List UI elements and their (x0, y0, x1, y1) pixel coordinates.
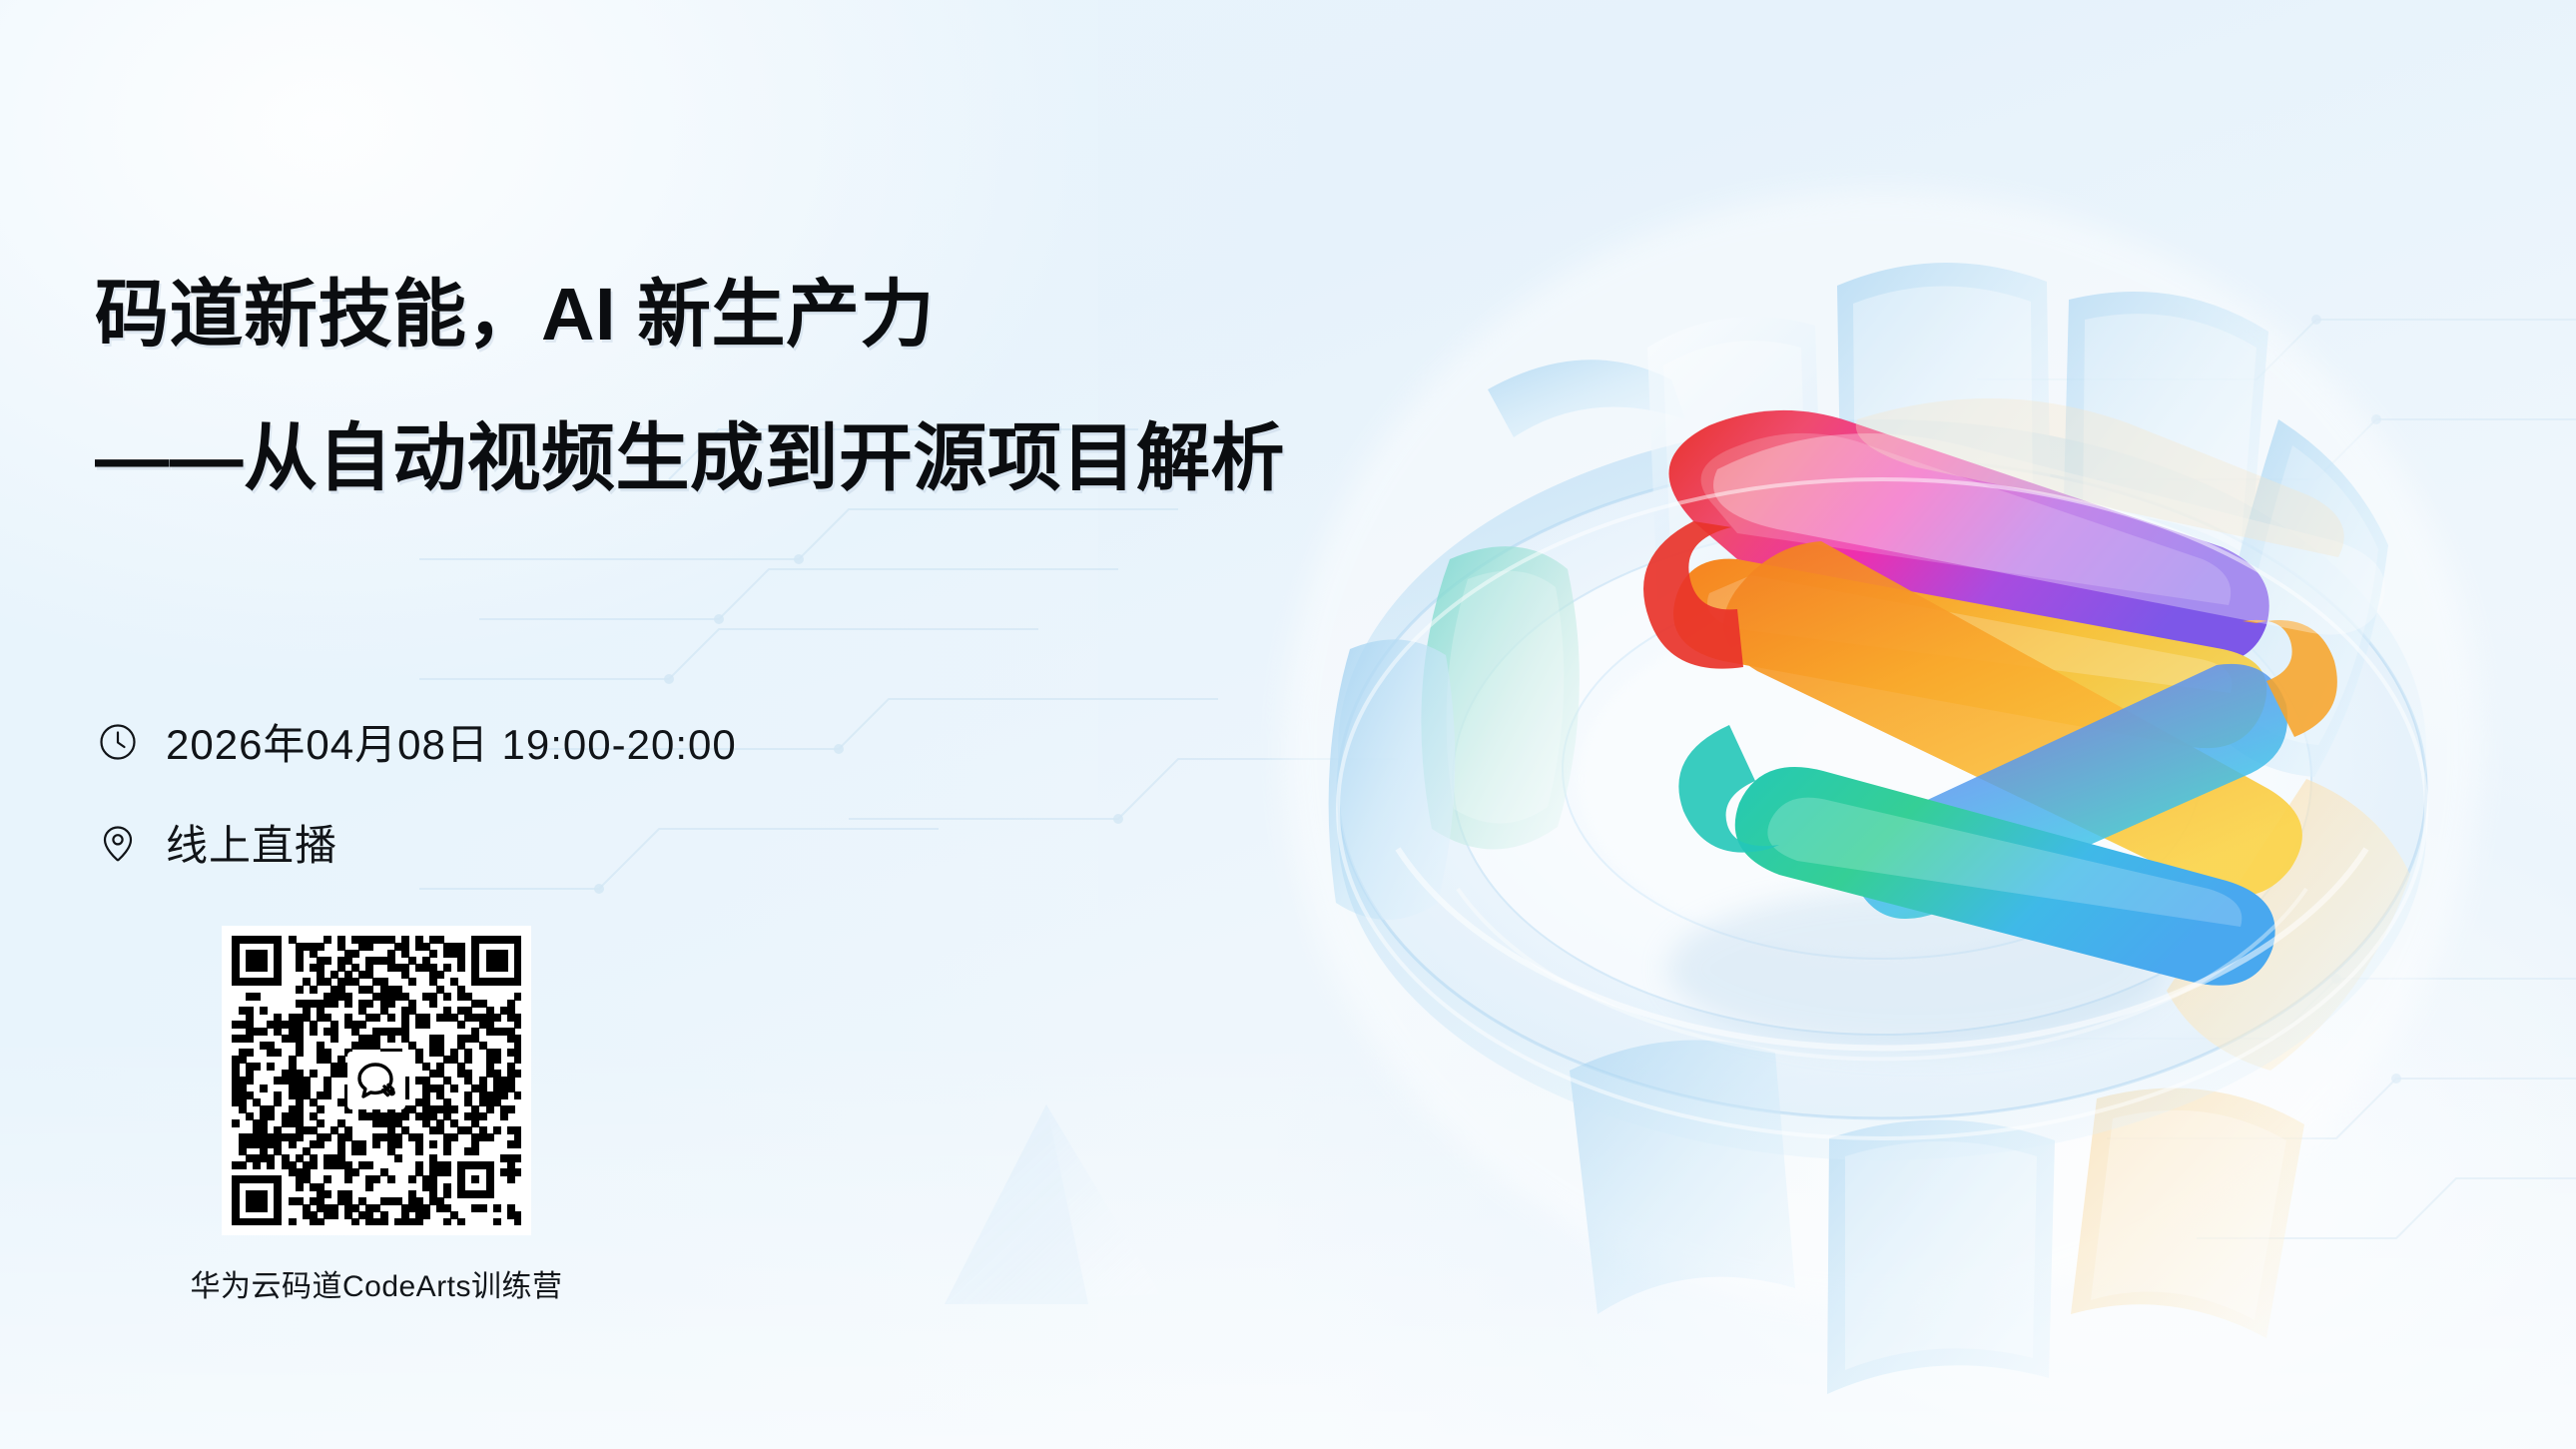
poster-title-line-2: ——从自动视频生成到开源项目解析 (95, 421, 1433, 495)
qr-caption: 华为云码道CodeArts训练营 (152, 1261, 601, 1305)
prism-decoration (939, 1098, 1168, 1318)
qr-card[interactable] (222, 926, 531, 1235)
location-pin-icon (98, 823, 138, 863)
clock-icon (98, 722, 138, 762)
poster-text-column: 码道新技能，AI 新生产力 ——从自动视频生成到开源项目解析 (95, 278, 1433, 495)
event-meta: 2026年04月08日 19:00-20:00 线上直播 (98, 711, 737, 913)
speech-bubble-icon (347, 1052, 405, 1109)
event-datetime-text: 2026年04月08日 19:00-20:00 (166, 711, 737, 772)
poster-title-line-1: 码道新技能，AI 新生产力 (95, 278, 1433, 352)
event-location-text: 线上直播 (166, 812, 337, 873)
event-datetime-row: 2026年04月08日 19:00-20:00 (98, 711, 737, 772)
event-poster: 码道新技能，AI 新生产力 ——从自动视频生成到开源项目解析 2026年04月0… (0, 0, 2576, 1449)
event-location-row: 线上直播 (98, 812, 737, 873)
qr-block: 华为云码道CodeArts训练营 (222, 926, 531, 1305)
